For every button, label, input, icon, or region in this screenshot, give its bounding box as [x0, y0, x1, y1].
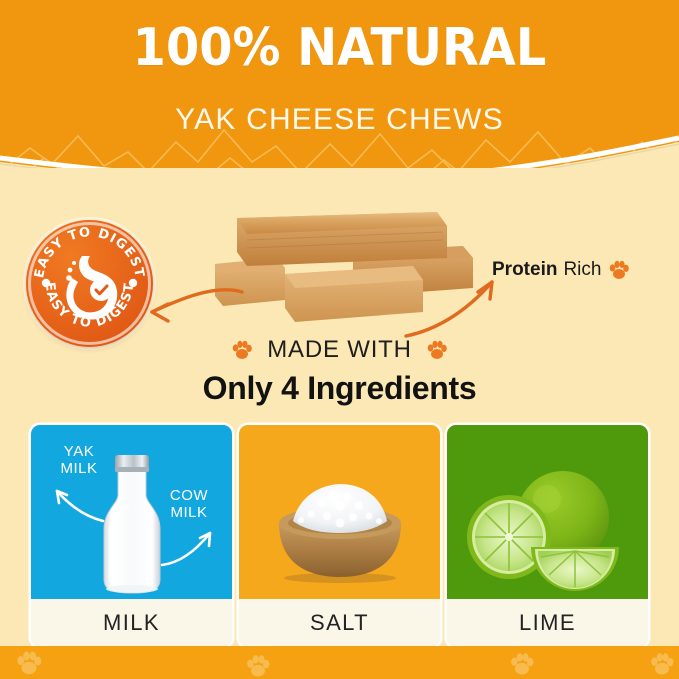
- arrow-up-right-icon: [158, 523, 220, 569]
- yak-milk-note: YAK MILK: [49, 443, 109, 529]
- salt-card-image-area: [239, 425, 440, 599]
- card-caption-milk: MILK: [31, 599, 232, 647]
- card-caption-salt: SALT: [239, 599, 440, 647]
- page-title: 100% NATURAL: [27, 22, 652, 74]
- lime-background: [447, 425, 648, 599]
- paw-print-icon: [230, 338, 254, 362]
- milk-background: YAK MILK COW MILK: [31, 425, 232, 599]
- ingredient-card-salt[interactable]: SALT: [239, 425, 440, 647]
- badge-text-bottom: EASY TO DIGEST: [42, 281, 138, 330]
- salt-background: [239, 425, 440, 599]
- cow-milk-line2: MILK: [158, 504, 220, 521]
- protein-bold-text: Protein: [492, 259, 557, 281]
- limes-image: [459, 465, 637, 591]
- paw-print-icon: [648, 650, 676, 678]
- cow-milk-line1: COW: [158, 487, 220, 504]
- cow-milk-note: COW MILK: [158, 487, 220, 573]
- paw-print-icon: [244, 652, 272, 679]
- curved-arrow-right: [400, 272, 520, 344]
- made-with-row: MADE WITH: [0, 336, 679, 364]
- paw-print-icon: [508, 650, 536, 678]
- ingredient-card-list: YAK MILK COW MILK MILK: [31, 425, 648, 647]
- stomach-check-icon: [66, 256, 117, 320]
- footer-band: [0, 646, 679, 679]
- yak-milk-line1: YAK: [49, 443, 109, 460]
- milk-card-image-area: YAK MILK COW MILK: [31, 425, 232, 599]
- lime-card-image-area: [447, 425, 648, 599]
- curved-arrow-left: [128, 278, 248, 338]
- card-caption-lime: LIME: [447, 599, 648, 647]
- made-with-label: MADE WITH: [267, 336, 412, 364]
- protein-rich-callout: Protein Rich: [492, 258, 631, 282]
- salt-bowl-image: [265, 473, 415, 583]
- arrow-up-left-icon: [49, 479, 109, 525]
- ingredient-card-lime[interactable]: LIME: [447, 425, 648, 647]
- paw-print-icon: [425, 338, 449, 362]
- yak-milk-line2: MILK: [49, 460, 109, 477]
- ingredients-headline: Only 4 Ingredients: [0, 370, 679, 407]
- paw-print-icon: [607, 258, 631, 282]
- paw-print-icon: [14, 648, 44, 678]
- protein-regular-text: Rich: [563, 259, 601, 281]
- ingredient-card-milk[interactable]: YAK MILK COW MILK MILK: [31, 425, 232, 647]
